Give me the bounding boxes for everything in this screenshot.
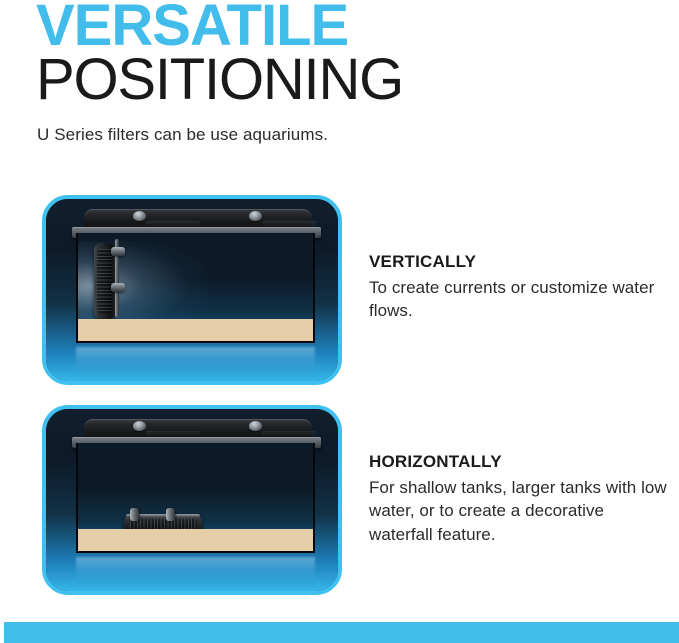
- suction-cup-icon: [166, 508, 175, 521]
- hood-latch-knob-icon: [133, 421, 146, 431]
- page-title-secondary: POSITIONING: [36, 50, 403, 111]
- infographic-page: VERSATILE POSITIONING U Series filters c…: [0, 0, 679, 643]
- hood-latch-knob-icon: [249, 421, 262, 431]
- info-heading: VERTICALLY: [369, 252, 669, 272]
- aquarium-card-vertical: [42, 195, 342, 385]
- suction-cup-icon: [111, 283, 125, 292]
- tank-reflection: [76, 557, 315, 591]
- aquarium-card-horizontal: [42, 405, 342, 595]
- tank-glass-body: [76, 443, 315, 553]
- tank-glass-body: [76, 233, 315, 343]
- filter-ribs: [97, 249, 112, 313]
- hood-latch-knob-icon: [133, 211, 146, 221]
- tank-gravel-substrate: [78, 529, 313, 551]
- info-body-text: For shallow tanks, larger tanks with low…: [369, 476, 669, 546]
- page-subtitle: U Series filters can be use aquariums.: [37, 125, 328, 145]
- hood-latch-knob-icon: [249, 211, 262, 221]
- info-body-text: To create currents or customize water fl…: [369, 276, 669, 323]
- footer-accent-bar: [4, 622, 679, 643]
- info-block-vertically: VERTICALLY To create currents or customi…: [369, 252, 669, 323]
- suction-cup-icon: [130, 508, 139, 521]
- tank-gravel-substrate: [78, 319, 313, 341]
- suction-cup-icon: [111, 247, 125, 256]
- info-heading: HORIZONTALLY: [369, 452, 669, 472]
- tank-reflection: [76, 347, 315, 381]
- info-block-horizontally: HORIZONTALLY For shallow tanks, larger t…: [369, 452, 669, 546]
